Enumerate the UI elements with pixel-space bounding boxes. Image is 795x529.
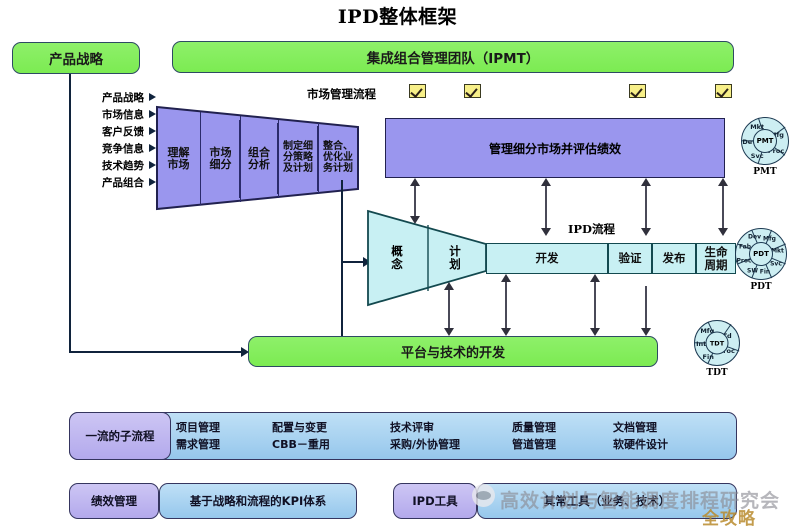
arrow-up-icon: [501, 274, 511, 282]
pdt-segment-svc: Svc: [770, 261, 782, 268]
subprocess-badge[interactable]: 一流的子流程: [69, 412, 171, 460]
tools-panel[interactable]: 其常工具（业务、技术）: [477, 483, 737, 519]
ipd-stage-line: 划: [449, 258, 461, 271]
tdt-hub: TDT: [706, 332, 729, 355]
ipmt-label: 集成组合管理团队（IPMT）: [367, 47, 540, 67]
market-input-label: 竞争信息: [102, 141, 144, 156]
arrow-up-icon: [718, 178, 728, 186]
arrow-shaft: [594, 278, 596, 330]
ipd-stage-2[interactable]: 计 划: [430, 232, 480, 284]
market-stage-line: 分析: [248, 159, 270, 171]
ipd-stage-line: 生命: [705, 246, 728, 258]
ipd-process-label: IPD流程: [568, 221, 615, 237]
arrow-down-icon: [718, 228, 728, 236]
platform-box[interactable]: 平台与技术的开发: [248, 336, 658, 367]
checkbox-2[interactable]: [464, 84, 481, 98]
pmt-segment-svc: Svc: [751, 152, 764, 160]
subprocess-column-5[interactable]: 文档管理 软硬件设计: [613, 419, 668, 453]
ipd-stage-line: 发布: [663, 252, 686, 264]
pmt-caption: PMT: [741, 167, 789, 177]
subprocess-item: CBB－重用: [272, 436, 330, 453]
pmt-hub: PMT: [753, 129, 777, 153]
arrow-down-icon: [501, 328, 511, 336]
subprocess-item: 文档管理: [613, 419, 668, 436]
arrow-up-icon: [590, 274, 600, 282]
checkbox-1[interactable]: [409, 84, 426, 98]
page-title: IPD整体框架: [0, 2, 795, 29]
product-strategy-label: 产品战略: [49, 48, 103, 68]
market-input-label: 市场信息: [102, 107, 144, 122]
subprocess-column-3[interactable]: 技术评审 采购/外协管理: [390, 419, 460, 453]
pdt-segment-sw: SW: [747, 268, 758, 275]
pdt-caption: PDT: [735, 282, 787, 292]
performance-badge-label: 绩效管理: [91, 493, 137, 509]
market-stage-line: 细分: [210, 159, 232, 171]
arrow-shaft: [505, 278, 507, 330]
ipd-stage-line: 周期: [705, 259, 728, 271]
ipd-stage-1[interactable]: 概 念: [372, 232, 422, 284]
arrow-shaft: [645, 182, 647, 230]
market-input-label: 产品战略: [102, 90, 144, 105]
arrow-shaft: [722, 182, 724, 230]
arrow-up-icon: [410, 178, 420, 186]
subprocess-item: 技术评审: [390, 419, 460, 436]
subprocess-item: 配置与变更: [272, 419, 330, 436]
checkbox-4[interactable]: [715, 84, 732, 98]
platform-label: 平台与技术的开发: [401, 342, 505, 361]
market-stage-3[interactable]: 组合 分析: [239, 120, 279, 198]
tools-content: 其常工具（业务、技术）: [544, 493, 671, 509]
subprocess-item: 质量管理: [512, 419, 556, 436]
product-strategy-box[interactable]: 产品战略: [12, 42, 140, 74]
subprocess-item: 采购/外协管理: [390, 436, 460, 453]
arrow-shaft: [545, 182, 547, 230]
market-stage-5[interactable]: 整合、 优化业 务计划: [317, 126, 358, 191]
pdt-segment-dev: Dev: [748, 234, 761, 241]
subprocess-item: 管道管理: [512, 436, 556, 453]
performance-badge[interactable]: 绩效管理: [69, 483, 159, 519]
arrow-shaft: [645, 286, 647, 330]
pdt-wheel[interactable]: Dev Mfg Mkt Svc Fin SW Proc Fab PDT: [735, 228, 787, 280]
checkbox-3[interactable]: [629, 84, 646, 98]
manage-segments-label: 管理细分市场并评估绩效: [489, 140, 621, 157]
arrow-up-icon: [541, 178, 551, 186]
connector-inputs-trunk: [69, 90, 71, 190]
arrow-down-icon: [590, 328, 600, 336]
subprocess-item: 项目管理: [176, 419, 220, 436]
market-stage-2[interactable]: 市场 细分: [200, 116, 241, 202]
ipd-stage-line: 开发: [536, 252, 559, 264]
market-management-label: 市场管理流程: [307, 86, 376, 102]
market-input-label: 技术趋势: [102, 158, 144, 173]
tdt-wheel[interactable]: Mfg Td Proc Fin Int TDT: [694, 320, 740, 366]
subprocess-item: 需求管理: [176, 436, 220, 453]
market-input-label: 产品组合: [102, 175, 144, 190]
subprocess-item: 软硬件设计: [613, 436, 668, 453]
arrow-down-icon: [444, 328, 454, 336]
ipd-stage-6[interactable]: 生命 周期: [696, 243, 736, 274]
market-stage-line: 及计划: [283, 164, 313, 175]
connector-funnel-down: [341, 180, 343, 358]
market-stage-line: 理解: [168, 147, 190, 159]
tdt-caption: TDT: [694, 368, 740, 378]
ipd-stage-5[interactable]: 发布: [652, 243, 696, 274]
arrow-up-icon: [444, 282, 454, 290]
subprocess-badge-label: 一流的子流程: [86, 428, 155, 444]
tools-badge[interactable]: IPD工具: [393, 483, 477, 519]
manage-segments-bar[interactable]: 管理细分市场并评估绩效: [385, 118, 725, 178]
pdt-segment-mkt: Mkt: [771, 248, 784, 255]
arrow-down-icon: [641, 228, 651, 236]
ipd-stage-3[interactable]: 开发: [486, 243, 608, 274]
subprocess-column-2[interactable]: 配置与变更 CBB－重用: [272, 419, 330, 453]
subprocess-column-1[interactable]: 项目管理 需求管理: [176, 419, 220, 453]
tools-badge-label: IPD工具: [412, 493, 457, 509]
arrow-shaft: [448, 286, 450, 330]
ipd-stage-line: 念: [391, 258, 403, 271]
market-inputs: 产品战略 市场信息 客户反馈 竞争信息 技术趋势 产品组合: [74, 90, 156, 194]
market-funnel: 理解 市场 市场 细分 组合 分析 制定细 分策略 及计划 整合、 优化业 务计…: [155, 108, 355, 208]
arrow-up-icon: [641, 178, 651, 186]
pdt-segment-mfg: Mfg: [763, 235, 776, 242]
market-stage-4[interactable]: 制定细 分策略 及计划: [277, 123, 319, 194]
ipd-stage-4[interactable]: 验证: [608, 243, 652, 274]
connector-strategy-horizontal: [69, 351, 241, 353]
market-stage-line: 市场: [168, 159, 190, 171]
connector-funnel-to-ipd-h: [341, 261, 363, 263]
performance-panel[interactable]: 基于战略和流程的KPI体系: [159, 483, 357, 519]
performance-content: 基于战略和流程的KPI体系: [190, 493, 327, 509]
arrow-down-icon: [641, 328, 651, 336]
market-stage-1[interactable]: 理解 市场: [157, 112, 201, 205]
market-stage-line: 务计划: [323, 164, 353, 175]
pdt-hub: PDT: [749, 242, 773, 266]
pmt-wheel[interactable]: Mkt Mfg Proc Svc Dev PMT: [741, 117, 789, 165]
market-input-label: 客户反馈: [102, 124, 144, 139]
pdt-segment-fin: Fin: [760, 268, 770, 275]
ipmt-box[interactable]: 集成组合管理团队（IPMT）: [172, 41, 734, 73]
subprocess-column-4[interactable]: 质量管理 管道管理: [512, 419, 556, 453]
arrow-down-icon: [541, 228, 551, 236]
market-input-arrow-icon: [149, 93, 156, 101]
tdt-segment-fin: Fin: [703, 353, 714, 361]
ipd-stage-line: 验证: [619, 252, 642, 264]
